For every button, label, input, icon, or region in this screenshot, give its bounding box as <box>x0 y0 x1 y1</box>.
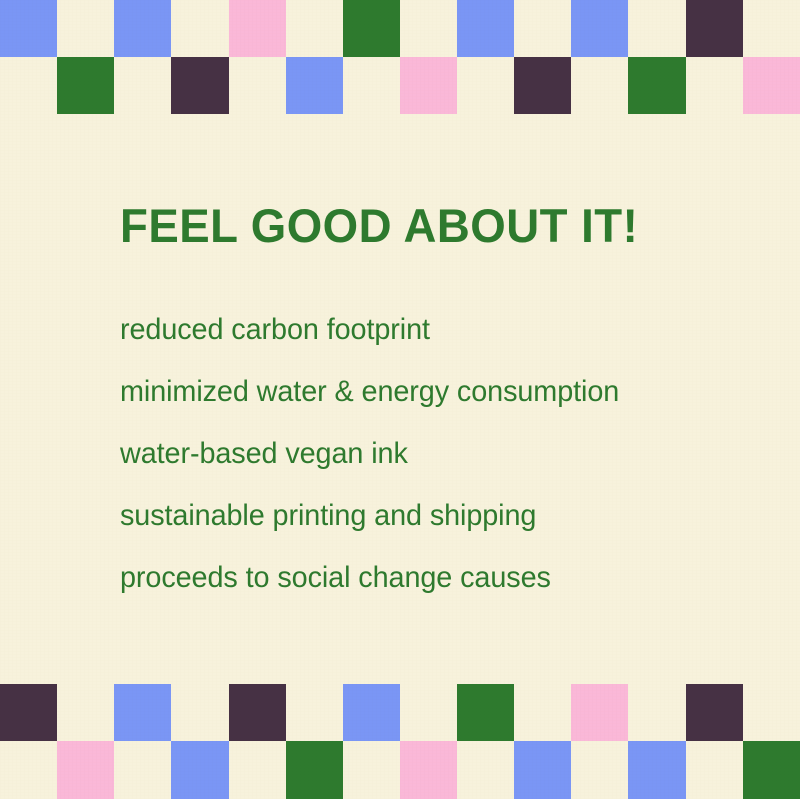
pattern-cell-pink <box>57 741 114 799</box>
page-title: FEEL GOOD ABOUT IT! <box>120 202 638 249</box>
pattern-row <box>0 741 800 799</box>
pattern-cell-cream <box>343 741 400 799</box>
pattern-cell-pink <box>400 57 457 114</box>
pattern-cell-cream <box>457 57 514 114</box>
pattern-cell-blue <box>0 0 57 57</box>
pattern-cell-green <box>343 0 400 57</box>
pattern-row <box>0 0 800 57</box>
pattern-cell-cream <box>628 0 685 57</box>
decorative-checker-pattern-top <box>0 0 800 114</box>
pattern-cell-pink <box>229 0 286 57</box>
pattern-cell-blue <box>514 741 571 799</box>
pattern-cell-cream <box>743 0 800 57</box>
benefit-item: reduced carbon footprint <box>120 299 619 361</box>
pattern-cell-green <box>628 57 685 114</box>
pattern-row <box>0 57 800 114</box>
benefit-item: proceeds to social change causes <box>120 547 619 609</box>
pattern-cell-green <box>743 741 800 799</box>
pattern-cell-pink <box>571 684 628 741</box>
pattern-cell-cream <box>229 57 286 114</box>
pattern-cell-cream <box>0 57 57 114</box>
pattern-cell-cream <box>171 0 228 57</box>
pattern-cell-cream <box>57 0 114 57</box>
pattern-cell-cream <box>686 57 743 114</box>
pattern-cell-blue <box>457 0 514 57</box>
pattern-cell-cream <box>400 684 457 741</box>
benefit-item: minimized water & energy consumption <box>120 361 619 423</box>
pattern-cell-cream <box>686 741 743 799</box>
pattern-cell-blue <box>171 741 228 799</box>
pattern-cell-purple <box>514 57 571 114</box>
pattern-cell-cream <box>0 741 57 799</box>
pattern-cell-cream <box>628 684 685 741</box>
pattern-cell-cream <box>57 684 114 741</box>
poster-canvas: FEEL GOOD ABOUT IT! reduced carbon footp… <box>0 0 800 799</box>
pattern-cell-blue <box>343 684 400 741</box>
pattern-cell-cream <box>114 57 171 114</box>
pattern-cell-cream <box>229 741 286 799</box>
pattern-cell-cream <box>400 0 457 57</box>
pattern-cell-cream <box>171 684 228 741</box>
pattern-cell-green <box>457 684 514 741</box>
pattern-cell-cream <box>743 684 800 741</box>
pattern-cell-purple <box>229 684 286 741</box>
pattern-cell-green <box>57 57 114 114</box>
pattern-cell-blue <box>571 0 628 57</box>
pattern-cell-blue <box>114 684 171 741</box>
pattern-cell-cream <box>457 741 514 799</box>
pattern-cell-green <box>286 741 343 799</box>
pattern-cell-blue <box>286 57 343 114</box>
decorative-checker-pattern-bottom <box>0 684 800 799</box>
pattern-row <box>0 684 800 741</box>
pattern-cell-purple <box>171 57 228 114</box>
benefit-item: water-based vegan ink <box>120 423 619 485</box>
pattern-cell-cream <box>571 57 628 114</box>
poster-content: FEEL GOOD ABOUT IT! reduced carbon footp… <box>0 114 800 684</box>
pattern-cell-cream <box>286 684 343 741</box>
pattern-cell-blue <box>114 0 171 57</box>
pattern-cell-cream <box>514 684 571 741</box>
pattern-cell-pink <box>743 57 800 114</box>
pattern-cell-cream <box>571 741 628 799</box>
benefits-list: reduced carbon footprintminimized water … <box>120 299 640 609</box>
pattern-cell-cream <box>343 57 400 114</box>
pattern-cell-pink <box>400 741 457 799</box>
pattern-cell-cream <box>114 741 171 799</box>
benefit-item: sustainable printing and shipping <box>120 485 619 547</box>
pattern-cell-blue <box>628 741 685 799</box>
pattern-cell-cream <box>286 0 343 57</box>
pattern-cell-cream <box>514 0 571 57</box>
pattern-cell-purple <box>686 684 743 741</box>
pattern-cell-purple <box>686 0 743 57</box>
pattern-cell-purple <box>0 684 57 741</box>
